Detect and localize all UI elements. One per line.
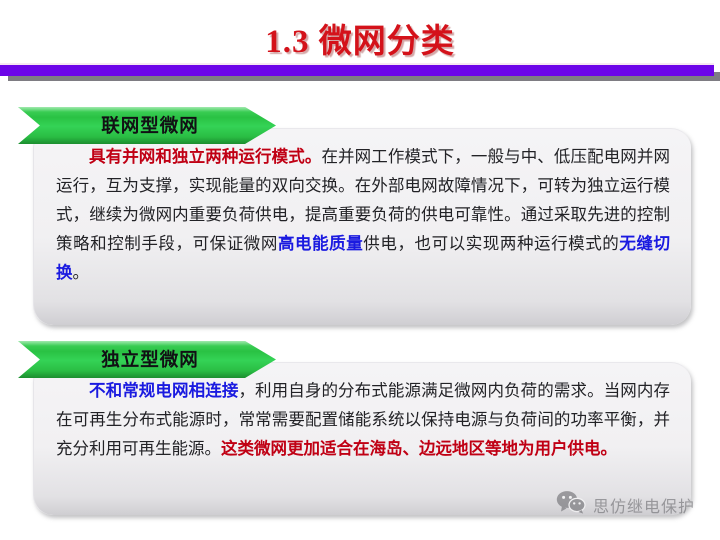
text-run: 这类微网更加适合在海岛、边远地区等地为用户供电。	[221, 440, 617, 458]
text-run: 供电，也可以实现两种运行模式的	[363, 235, 619, 253]
section-banner-grid-connected: 联网型微网	[18, 107, 276, 144]
section-banner-islanded: 独立型微网	[18, 341, 276, 378]
section-banner-label: 联网型微网	[18, 107, 276, 144]
paragraph-grid-connected: 具有并网和独立两种运行模式。在并网工作模式下，一般与中、低压配电网并网运行，互为…	[56, 143, 670, 288]
section-banner-label: 独立型微网	[18, 341, 276, 378]
divider-hairline	[0, 63, 714, 65]
content-panel-grid-connected: 具有并网和独立两种运行模式。在并网工作模式下，一般与中、低压配电网并网运行，互为…	[33, 128, 691, 325]
wechat-icon	[556, 490, 586, 519]
text-run: 高电能质量	[278, 235, 363, 253]
paragraph-islanded: 不和常规电网相连接，利用自身的分布式能源满足微网内负荷的需求。当网内存在可再生分…	[56, 377, 670, 464]
slide-canvas: 1.3 微网分类 具有并网和独立两种运行模式。在并网工作模式下，一般与中、低压配…	[0, 0, 720, 540]
text-run: 具有并网和独立两种运行模式。	[89, 148, 321, 166]
page-title: 1.3 微网分类	[0, 14, 720, 62]
text-run: 不和常规电网相连接	[89, 382, 238, 400]
title-divider	[0, 63, 720, 83]
wechat-watermark: 思仿继电保护	[556, 490, 695, 519]
divider-bar	[0, 65, 714, 76]
watermark-label: 思仿继电保护	[593, 493, 695, 517]
text-run: 。	[73, 264, 90, 282]
